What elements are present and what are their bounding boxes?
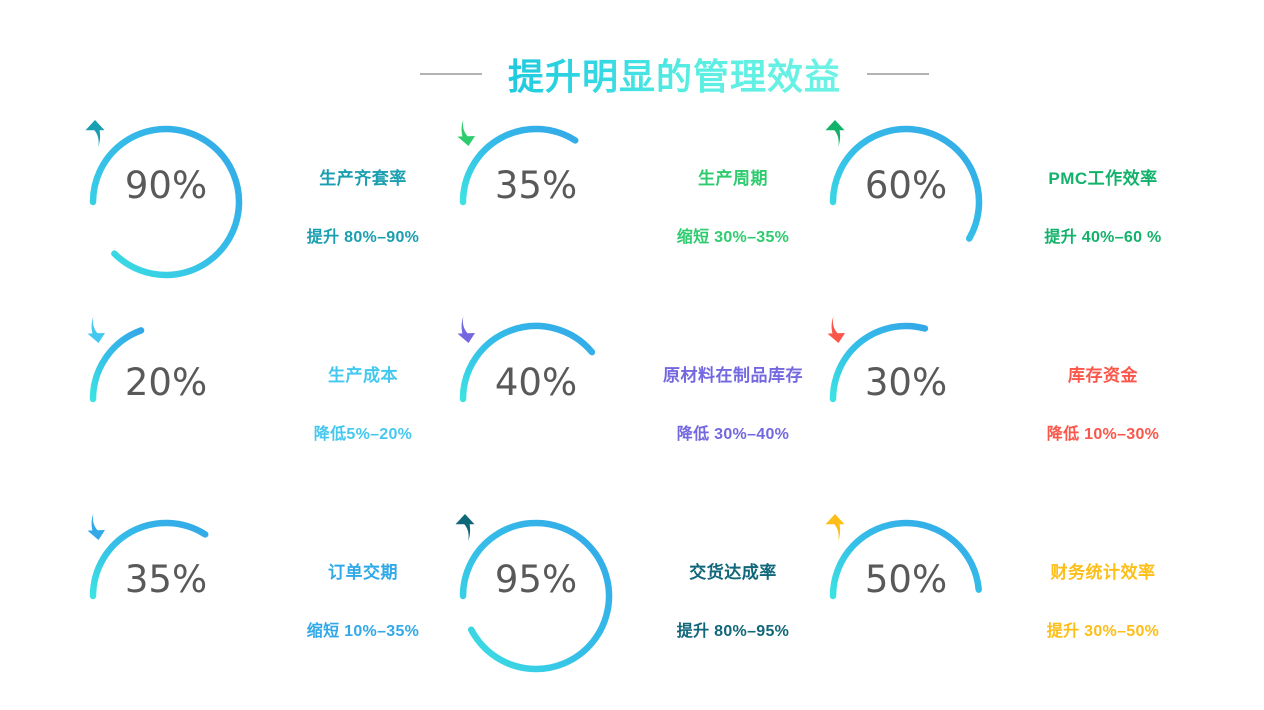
progress-ring: 60% xyxy=(822,118,990,286)
gauge-percent-value: 40% xyxy=(495,364,577,401)
gauge-card: 60%PMC工作效率提升 40%–60 % xyxy=(822,118,1192,315)
gauge-labels: 财务统计效率提升 30%–50% xyxy=(990,512,1192,641)
metric-name: 订单交期 xyxy=(328,558,398,583)
gauge-labels: PMC工作效率提升 40%–60 % xyxy=(990,118,1192,247)
header-divider-right xyxy=(867,73,929,75)
gauge-center: 50% xyxy=(822,512,990,680)
page-header: 提升明显的管理效益 xyxy=(0,46,1264,102)
gauge-labels: 生产齐套率提升 80%–90% xyxy=(250,118,452,247)
progress-ring: 40% xyxy=(452,315,620,483)
metric-delta: 降低 30%–40% xyxy=(677,420,789,444)
gauge-center: 40% xyxy=(452,315,620,483)
gauge-labels: 生产成本降低5%–20% xyxy=(250,315,452,444)
gauge-percent-value: 95% xyxy=(495,561,577,598)
arrow-up-icon xyxy=(893,207,919,237)
gauge-center: 60% xyxy=(822,118,990,286)
gauge-center: 95% xyxy=(452,512,620,680)
gauge-center: 90% xyxy=(82,118,250,286)
gauge-percent-value: 30% xyxy=(865,364,947,401)
metric-delta: 提升 80%–95% xyxy=(677,617,789,641)
gauge-grid: 90%生产齐套率提升 80%–90%35%生产周期缩短 30%–35%60%PM… xyxy=(82,118,1192,710)
metric-name: 库存资金 xyxy=(1068,361,1138,386)
arrow-down-icon xyxy=(893,404,919,434)
gauge-card: 50%财务统计效率提升 30%–50% xyxy=(822,512,1192,709)
metric-delta: 缩短 30%–35% xyxy=(677,223,789,247)
metric-name: 交货达成率 xyxy=(689,558,777,583)
gauge-percent-value: 90% xyxy=(125,167,207,204)
gauge-center: 35% xyxy=(452,118,620,286)
arrow-down-icon xyxy=(523,207,549,237)
gauge-labels: 生产周期缩短 30%–35% xyxy=(620,118,822,247)
gauge-labels: 订单交期缩短 10%–35% xyxy=(250,512,452,641)
metric-delta: 提升 30%–50% xyxy=(1047,617,1159,641)
arrow-up-icon xyxy=(893,601,919,631)
metric-name: 原材料在制品库存 xyxy=(663,361,803,386)
gauge-percent-value: 35% xyxy=(125,561,207,598)
gauge-percent-value: 20% xyxy=(125,364,207,401)
gauge-center: 35% xyxy=(82,512,250,680)
gauge-labels: 原材料在制品库存降低 30%–40% xyxy=(620,315,822,444)
metric-name: 生产齐套率 xyxy=(319,164,407,189)
gauge-percent-value: 35% xyxy=(495,167,577,204)
metric-delta: 提升 80%–90% xyxy=(307,223,419,247)
gauge-card: 95%交货达成率提升 80%–95% xyxy=(452,512,822,709)
gauge-card: 40%原材料在制品库存降低 30%–40% xyxy=(452,315,822,512)
progress-ring: 30% xyxy=(822,315,990,483)
progress-ring: 35% xyxy=(82,512,250,680)
gauge-percent-value: 60% xyxy=(865,167,947,204)
arrow-down-icon xyxy=(153,404,179,434)
gauge-labels: 库存资金降低 10%–30% xyxy=(990,315,1192,444)
arrow-down-icon xyxy=(153,601,179,631)
progress-ring: 20% xyxy=(82,315,250,483)
metric-delta: 提升 40%–60 % xyxy=(1044,223,1161,247)
metric-delta: 降低 10%–30% xyxy=(1047,420,1159,444)
progress-ring: 95% xyxy=(452,512,620,680)
metric-delta: 降低5%–20% xyxy=(314,420,412,444)
metric-delta: 缩短 10%–35% xyxy=(307,617,419,641)
header-divider-left xyxy=(420,73,482,75)
gauge-labels: 交货达成率提升 80%–95% xyxy=(620,512,822,641)
gauge-percent-value: 50% xyxy=(865,561,947,598)
progress-ring: 50% xyxy=(822,512,990,680)
progress-ring: 35% xyxy=(452,118,620,286)
metric-name: 生产成本 xyxy=(328,361,398,386)
progress-ring: 90% xyxy=(82,118,250,286)
gauge-card: 35%订单交期缩短 10%–35% xyxy=(82,512,452,709)
arrow-down-icon xyxy=(523,404,549,434)
gauge-card: 30%库存资金降低 10%–30% xyxy=(822,315,1192,512)
arrow-up-icon xyxy=(153,207,179,237)
arrow-up-icon xyxy=(523,601,549,631)
metric-name: 财务统计效率 xyxy=(1051,558,1156,583)
gauge-center: 30% xyxy=(822,315,990,483)
page-title: 提升明显的管理效益 xyxy=(508,48,841,100)
gauge-card: 90%生产齐套率提升 80%–90% xyxy=(82,118,452,315)
gauge-card: 20%生产成本降低5%–20% xyxy=(82,315,452,512)
metric-name: PMC工作效率 xyxy=(1048,164,1157,189)
gauge-center: 20% xyxy=(82,315,250,483)
metric-name: 生产周期 xyxy=(698,164,768,189)
gauge-card: 35%生产周期缩短 30%–35% xyxy=(452,118,822,315)
